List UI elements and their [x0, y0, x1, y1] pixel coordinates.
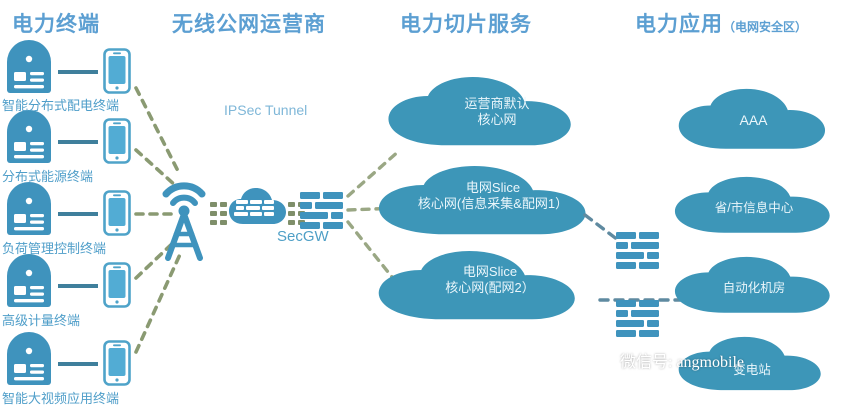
app-cloud-automation-room: [675, 257, 830, 313]
watermark: 微信号: angmobile: [586, 348, 744, 372]
watermark-text: 微信号: angmobile: [620, 348, 744, 372]
network-architecture-diagram: 电力终端 无线公网运营商 电力切片服务 电力应用（电网安全区） 智能分布式配电终…: [0, 0, 851, 406]
column-header-title: 电力切片服务: [400, 13, 532, 36]
secgw-label: SecGW: [277, 228, 329, 245]
firewall-icon-lower: [616, 300, 659, 337]
traffic-speckle-left: [210, 202, 227, 225]
column-header-title: 无线公网运营商: [172, 13, 326, 36]
app-cloud-info-center: [675, 177, 830, 233]
column-header-title: 电力应用: [635, 13, 723, 36]
ipsec-tunnel-label: IPSec Tunnel: [224, 102, 307, 118]
wechat-bubble-icon: [586, 350, 614, 370]
cell-tower-icon: [166, 186, 202, 258]
terminal-label-advanced-metering: 高级计量终端: [2, 310, 80, 329]
app-cloud-aaa: [679, 89, 825, 149]
column-header-wireless-operator: 无线公网运营商: [172, 8, 326, 38]
column-header-title: 电力终端: [12, 13, 100, 36]
terminal-label-distributed-energy: 分布式能源终端: [2, 166, 93, 185]
core-cloud-slice-2: [379, 251, 575, 319]
column-header-power-application: 电力应用（电网安全区）: [635, 8, 807, 38]
column-header-power-slice-service: 电力切片服务: [400, 8, 532, 38]
terminal-label-load-management: 负荷管理控制终端: [2, 238, 106, 257]
terminal-label-smart-video: 智能大视频应用终端: [2, 388, 119, 407]
core-cloud-operator: [388, 77, 570, 145]
terminal-to-tower-links: [136, 88, 182, 352]
diagram-canvas: [0, 0, 851, 406]
terminal-row-group: [7, 40, 130, 385]
cloud-firewall-icon: [229, 188, 286, 224]
core-cloud-slice-1: [379, 166, 586, 234]
secgw-firewall-icon: [300, 192, 343, 229]
column-header-subtitle: （电网安全区）: [723, 20, 807, 34]
column-header-power-terminal: 电力终端: [12, 8, 100, 38]
terminal-label-smart-distribution: 智能分布式配电终端: [2, 95, 119, 114]
firewall-icon-upper: [616, 232, 659, 269]
